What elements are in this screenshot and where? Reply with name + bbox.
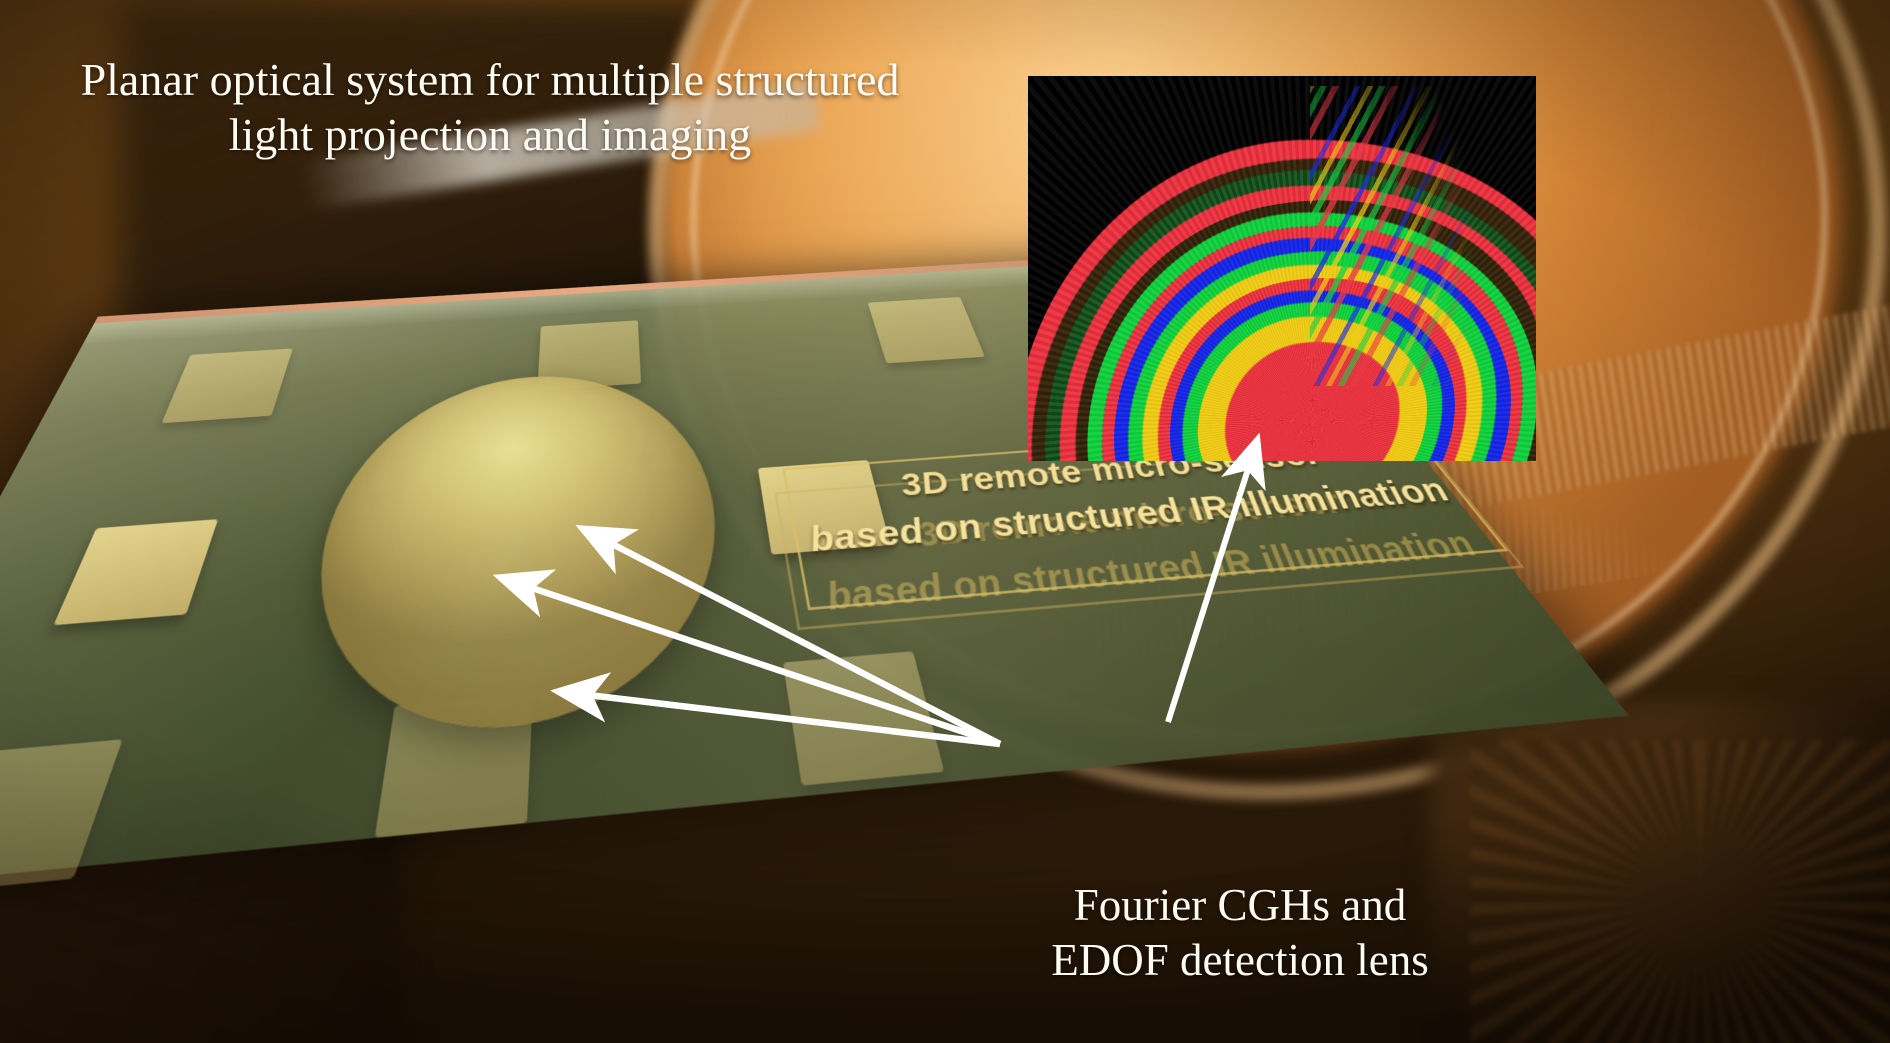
page-title: Planar optical system for multiple struc…: [0, 52, 980, 162]
caption-line-1: Fourier CGHs and: [1074, 880, 1406, 930]
title-line-2: light projection and imaging: [0, 107, 980, 162]
contour-fringe-streaks: [1310, 86, 1536, 386]
caption-line-2: EDOF detection lens: [1051, 935, 1428, 985]
caption-block: Fourier CGHs and EDOF detection lens: [960, 878, 1520, 988]
slide-canvas: 3D remote micro-sensor based on structur…: [0, 0, 1890, 1043]
title-line-1: Planar optical system for multiple struc…: [81, 54, 900, 105]
structured-light-inset-image: [1028, 76, 1536, 461]
